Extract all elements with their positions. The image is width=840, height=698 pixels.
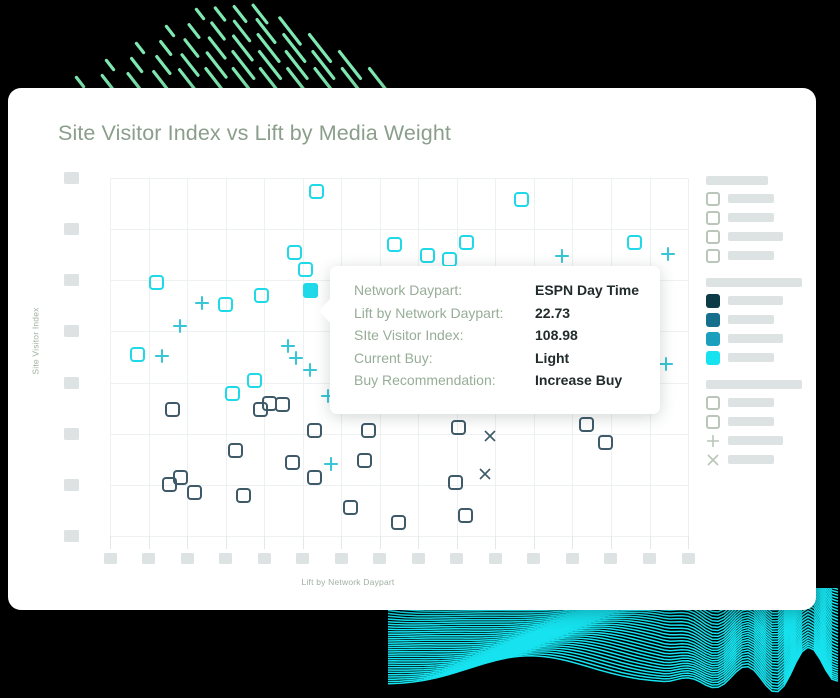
x-axis-tick-label: [258, 553, 271, 564]
square-marker-icon: [287, 245, 302, 260]
legend-item[interactable]: [698, 311, 816, 330]
x-axis-tick: [149, 536, 150, 549]
legend-item[interactable]: [698, 209, 816, 228]
scatter-marker-square-outline[interactable]: [228, 443, 243, 458]
x-axis-tick: [611, 536, 612, 549]
y-axis-tick-label: [64, 172, 79, 184]
scatter-marker-plus[interactable]: [302, 362, 318, 383]
scatter-marker-plus[interactable]: [154, 348, 170, 369]
x-axis-tick-label: [566, 553, 579, 564]
x-axis-tick: [264, 536, 265, 549]
scatter-marker-square-outline[interactable]: [361, 423, 376, 438]
tooltip-row-label: Buy Recommendation:: [354, 372, 535, 388]
y-axis-tick-label: [64, 274, 79, 286]
square-marker-icon: [228, 443, 243, 458]
legend-item[interactable]: [698, 432, 816, 451]
data-point-tooltip: Network Daypart:ESPN Day TimeLift by Net…: [330, 266, 660, 414]
scatter-marker-square-outline[interactable]: [448, 475, 463, 490]
legend-swatch-filled: [706, 313, 720, 327]
legend-swatch-outline: [706, 230, 720, 244]
tooltip-row: SIte Visitor Index:108.98: [354, 327, 639, 350]
legend-item[interactable]: [698, 247, 816, 266]
x-axis-tick-label: [335, 553, 348, 564]
highlighted-data-point[interactable]: [303, 283, 318, 298]
legend-filled-square-icon: [706, 351, 720, 365]
square-marker-icon: [387, 237, 402, 252]
x-axis-tick: [457, 536, 458, 549]
scatter-marker-plus[interactable]: [658, 356, 674, 377]
scatter-marker-square-outline[interactable]: [391, 515, 406, 530]
square-marker-icon: [309, 184, 324, 199]
x-axis-tick-label: [412, 553, 425, 564]
scatter-marker-square-outline[interactable]: [420, 248, 435, 263]
x-axis-tick: [418, 536, 419, 549]
square-marker-icon: [361, 423, 376, 438]
y-axis-tick-label: [64, 325, 79, 337]
square-marker-icon: [451, 420, 466, 435]
scatter-marker-plus[interactable]: [194, 295, 210, 316]
square-marker-icon: [285, 455, 300, 470]
square-marker-icon: [579, 417, 594, 432]
x-axis-tick: [495, 536, 496, 549]
x-axis-title: Lift by Network Daypart: [8, 577, 688, 587]
y-axis-tick-labels: [64, 178, 88, 536]
legend-square-outline-icon: [706, 396, 720, 410]
scatter-marker-square-outline[interactable]: [458, 508, 473, 523]
legend-filled-square-icon: [706, 332, 720, 346]
x-axis-tick: [341, 536, 342, 549]
scatter-marker-square-outline[interactable]: [236, 488, 251, 503]
scatter-marker-square-outline[interactable]: [130, 347, 145, 362]
tooltip-row: Buy Recommendation:Increase Buy: [354, 372, 639, 395]
legend-swatch-filled: [706, 294, 720, 308]
legend-square-outline-icon: [706, 192, 720, 206]
square-marker-icon: [236, 488, 251, 503]
square-marker-icon: [627, 235, 642, 250]
legend-plus-icon: [706, 434, 720, 448]
x-axis-tick-label: [219, 553, 232, 564]
legend-swatch-cross: [706, 453, 720, 467]
vertical-gridline: [149, 178, 150, 536]
scatter-marker-square-outline[interactable]: [285, 455, 300, 470]
x-axis-tick: [650, 536, 651, 549]
square-marker-icon: [247, 373, 262, 388]
chart-card: Site Visitor Index vs Lift by Media Weig…: [8, 88, 816, 610]
legend-item-label: [728, 417, 774, 426]
deco-top-svg: [0, 0, 840, 92]
tooltip-row-value: 22.73: [535, 305, 570, 321]
legend-item-label: [728, 334, 783, 343]
scatter-marker-square-outline[interactable]: [287, 245, 302, 260]
scatter-marker-square-outline[interactable]: [275, 397, 290, 412]
vertical-gridline: [226, 178, 227, 536]
x-axis-tick-label: [104, 553, 117, 564]
square-marker-icon: [165, 402, 180, 417]
legend-swatch-filled: [706, 332, 720, 346]
x-axis-tick-label: [373, 553, 386, 564]
scatter-marker-square-outline[interactable]: [307, 423, 322, 438]
legend-item-label: [728, 398, 774, 407]
legend-item-label: [728, 436, 783, 445]
x-axis-tick: [572, 536, 573, 549]
scatter-marker-square-outline[interactable]: [357, 453, 372, 468]
square-marker-icon: [218, 297, 233, 312]
legend-item[interactable]: [698, 349, 816, 368]
scatter-marker-square-outline[interactable]: [309, 184, 324, 199]
x-axis-tick-label: [604, 553, 617, 564]
highlighted-marker-icon: [303, 283, 318, 298]
x-axis-tick-label: [489, 553, 502, 564]
scatter-marker-square-outline[interactable]: [225, 386, 240, 401]
x-axis-tick-label: [296, 553, 309, 564]
legend-item-label: [728, 315, 774, 324]
y-axis-tick-label: [64, 377, 79, 389]
square-marker-icon: [187, 485, 202, 500]
legend-item-label: [728, 353, 774, 362]
x-axis-tick: [303, 536, 304, 549]
legend-item[interactable]: [698, 413, 816, 432]
x-axis-tick-label: [142, 553, 155, 564]
legend-item-label: [728, 251, 774, 260]
tooltip-rows: Network Daypart:ESPN Day TimeLift by Net…: [354, 282, 639, 395]
legend-item[interactable]: [698, 451, 816, 470]
tooltip-row-value: ESPN Day Time: [535, 282, 639, 298]
legend-item-label: [728, 296, 783, 305]
x-axis-tick-label: [643, 553, 656, 564]
square-marker-icon: [254, 288, 269, 303]
x-axis-tick: [187, 536, 188, 549]
tooltip-row-value: 108.98: [535, 327, 578, 343]
square-marker-icon: [598, 435, 613, 450]
scatter-marker-plus[interactable]: [172, 318, 188, 339]
square-marker-icon: [458, 508, 473, 523]
square-marker-icon: [225, 386, 240, 401]
scatter-marker-square-outline[interactable]: [343, 500, 358, 515]
square-marker-icon: [149, 275, 164, 290]
scatter-marker-square-outline[interactable]: [307, 470, 322, 485]
scatter-marker-square-outline[interactable]: [579, 417, 594, 432]
square-marker-icon: [130, 347, 145, 362]
legend-item[interactable]: [698, 394, 816, 413]
legend-swatch-filled: [706, 351, 720, 365]
x-axis-tick-labels: [110, 553, 688, 567]
scatter-marker-cross[interactable]: [482, 428, 498, 449]
legend-item-label: [728, 232, 783, 241]
tooltip-row-label: Current Buy:: [354, 350, 535, 366]
tooltip-row-value: Light: [535, 350, 569, 366]
horizontal-gridline: [110, 178, 688, 179]
scatter-marker-square-outline[interactable]: [187, 485, 202, 500]
square-marker-icon: [307, 423, 322, 438]
legend-group-title: [706, 278, 802, 287]
tooltip-row: Lift by Network Daypart:22.73: [354, 305, 639, 328]
scatter-marker-square-outline[interactable]: [451, 420, 466, 435]
square-marker-icon: [391, 515, 406, 530]
x-axis-tick-label: [181, 553, 194, 564]
y-axis-tick-label: [64, 223, 79, 235]
legend-square-outline-icon: [706, 211, 720, 225]
scatter-marker-cross[interactable]: [477, 466, 493, 487]
x-axis-tick: [380, 536, 381, 549]
square-marker-icon: [459, 235, 474, 250]
legend-square-outline-icon: [706, 249, 720, 263]
scatter-marker-square-outline[interactable]: [442, 252, 457, 267]
tooltip-row-label: SIte Visitor Index:: [354, 327, 535, 343]
square-marker-icon: [343, 500, 358, 515]
legend-item[interactable]: [698, 228, 816, 247]
x-axis-tick-label: [682, 553, 695, 564]
scatter-marker-square-outline[interactable]: [247, 373, 262, 388]
legend-cross-icon: [706, 453, 720, 467]
vertical-gridline: [110, 178, 111, 536]
scatter-marker-square-outline[interactable]: [149, 275, 164, 290]
legend-filled-square-icon: [706, 294, 720, 308]
y-axis-title: Site Visitor Index: [31, 307, 41, 374]
scatter-marker-square-outline[interactable]: [165, 402, 180, 417]
legend-item-label: [728, 213, 774, 222]
scatter-marker-square-outline[interactable]: [298, 262, 313, 277]
scatter-marker-square-outline[interactable]: [387, 237, 402, 252]
legend-swatch-outline: [706, 192, 720, 206]
legend-square-outline-icon: [706, 230, 720, 244]
scatter-marker-square-outline[interactable]: [254, 288, 269, 303]
legend-swatch-outline: [706, 249, 720, 263]
legend-group-title: [706, 380, 802, 389]
square-marker-icon: [307, 470, 322, 485]
horizontal-gridline: [110, 229, 688, 230]
scatter-marker-plus[interactable]: [323, 456, 339, 477]
tooltip-row-value: Increase Buy: [535, 372, 622, 388]
scatter-marker-square-outline[interactable]: [598, 435, 613, 450]
tooltip-row: Current Buy:Light: [354, 350, 639, 373]
legend-filled-square-icon: [706, 313, 720, 327]
square-marker-icon: [298, 262, 313, 277]
x-axis-tick-label: [450, 553, 463, 564]
scatter-marker-square-outline[interactable]: [173, 470, 188, 485]
legend-group-title: [706, 176, 768, 185]
vertical-gridline: [688, 178, 689, 536]
scatter-marker-square-outline[interactable]: [514, 192, 529, 207]
scatter-marker-square-outline[interactable]: [218, 297, 233, 312]
page-title: Site Visitor Index vs Lift by Media Weig…: [58, 121, 451, 146]
decorative-dash-pattern: [0, 0, 840, 92]
x-axis-tick: [226, 536, 227, 549]
square-marker-icon: [357, 453, 372, 468]
square-marker-icon: [514, 192, 529, 207]
x-axis-tick: [110, 536, 111, 549]
scatter-marker-plus[interactable]: [660, 246, 676, 267]
square-marker-icon: [448, 475, 463, 490]
tooltip-row: Network Daypart:ESPN Day Time: [354, 282, 639, 305]
y-axis-tick-label: [64, 530, 79, 542]
square-marker-icon: [173, 470, 188, 485]
legend-item-label: [728, 194, 774, 203]
legend-swatch-plus: [706, 434, 720, 448]
square-marker-icon: [275, 397, 290, 412]
legend-swatch-outline: [706, 211, 720, 225]
tooltip-row-label: Network Daypart:: [354, 282, 535, 298]
square-marker-icon: [442, 252, 457, 267]
legend-item[interactable]: [698, 330, 816, 349]
x-axis-tick: [534, 536, 535, 549]
x-axis-ticks: [110, 536, 688, 550]
tooltip-row-label: Lift by Network Daypart:: [354, 305, 535, 321]
y-axis-tick-label: [64, 428, 79, 440]
legend-swatch-outline: [706, 396, 720, 410]
square-marker-icon: [420, 248, 435, 263]
scatter-marker-square-outline[interactable]: [459, 235, 474, 250]
chart-legend[interactable]: [698, 176, 816, 566]
scatter-marker-square-outline[interactable]: [627, 235, 642, 250]
vertical-gridline: [264, 178, 265, 536]
legend-square-outline-icon: [706, 415, 720, 429]
legend-item-label: [728, 455, 774, 464]
legend-swatch-outline: [706, 415, 720, 429]
x-axis-tick-label: [527, 553, 540, 564]
legend-item[interactable]: [698, 190, 816, 209]
x-axis-tick: [688, 536, 689, 549]
legend-item[interactable]: [698, 292, 816, 311]
y-axis-tick-label: [64, 479, 79, 491]
